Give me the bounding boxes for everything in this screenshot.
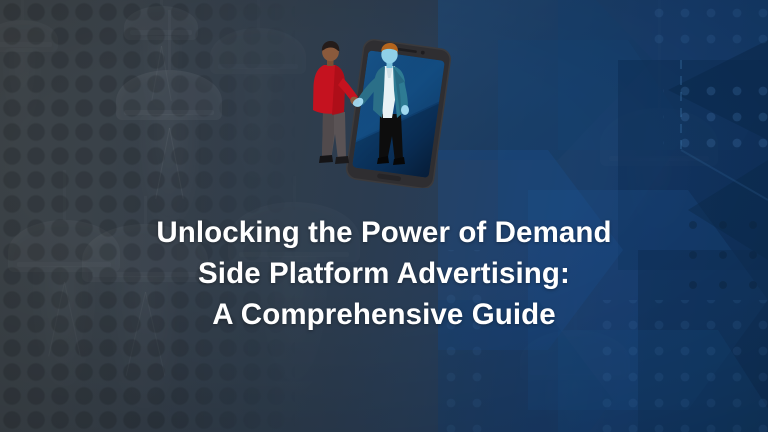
digital-handshake-illustration [300, 38, 470, 188]
page-title: Unlocking the Power of Demand Side Platf… [0, 212, 768, 335]
illustration-svg [300, 38, 470, 188]
headline-line-1: Unlocking the Power of Demand [0, 212, 768, 253]
headline-line-3: A Comprehensive Guide [0, 294, 768, 335]
hero-banner: Unlocking the Power of Demand Side Platf… [0, 0, 768, 432]
headline-line-2: Side Platform Advertising: [0, 253, 768, 294]
